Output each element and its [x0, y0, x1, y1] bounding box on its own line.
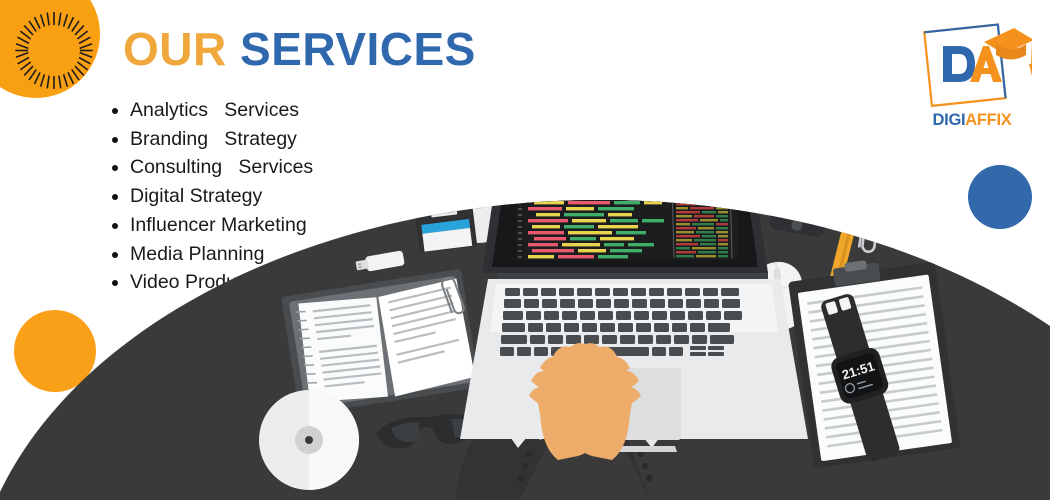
caller-avatar — [778, 144, 834, 200]
services-banner: OUR SERVICES Analytics Services Branding… — [0, 0, 1050, 500]
workspace-illustration: 21:51 — [0, 0, 1050, 500]
smartphone[interactable] — [768, 130, 841, 238]
notepad — [763, 99, 842, 180]
logo-text-digi: DIGI — [933, 111, 966, 129]
accept-call-button[interactable] — [778, 192, 798, 212]
floppy-disk — [413, 191, 477, 254]
decline-call-button[interactable] — [804, 197, 824, 217]
logo-text-affix: AFFIX — [965, 111, 1011, 129]
cd-disc-bottom — [259, 390, 359, 490]
laptop[interactable] — [460, 165, 808, 452]
logo-wordmark: DIGIAFFIX — [912, 112, 1032, 129]
phone-speaker-icon — [802, 140, 820, 145]
hands — [529, 343, 641, 460]
logo-mark — [912, 14, 1032, 110]
brand-logo[interactable]: DIGIAFFIX — [912, 14, 1032, 136]
